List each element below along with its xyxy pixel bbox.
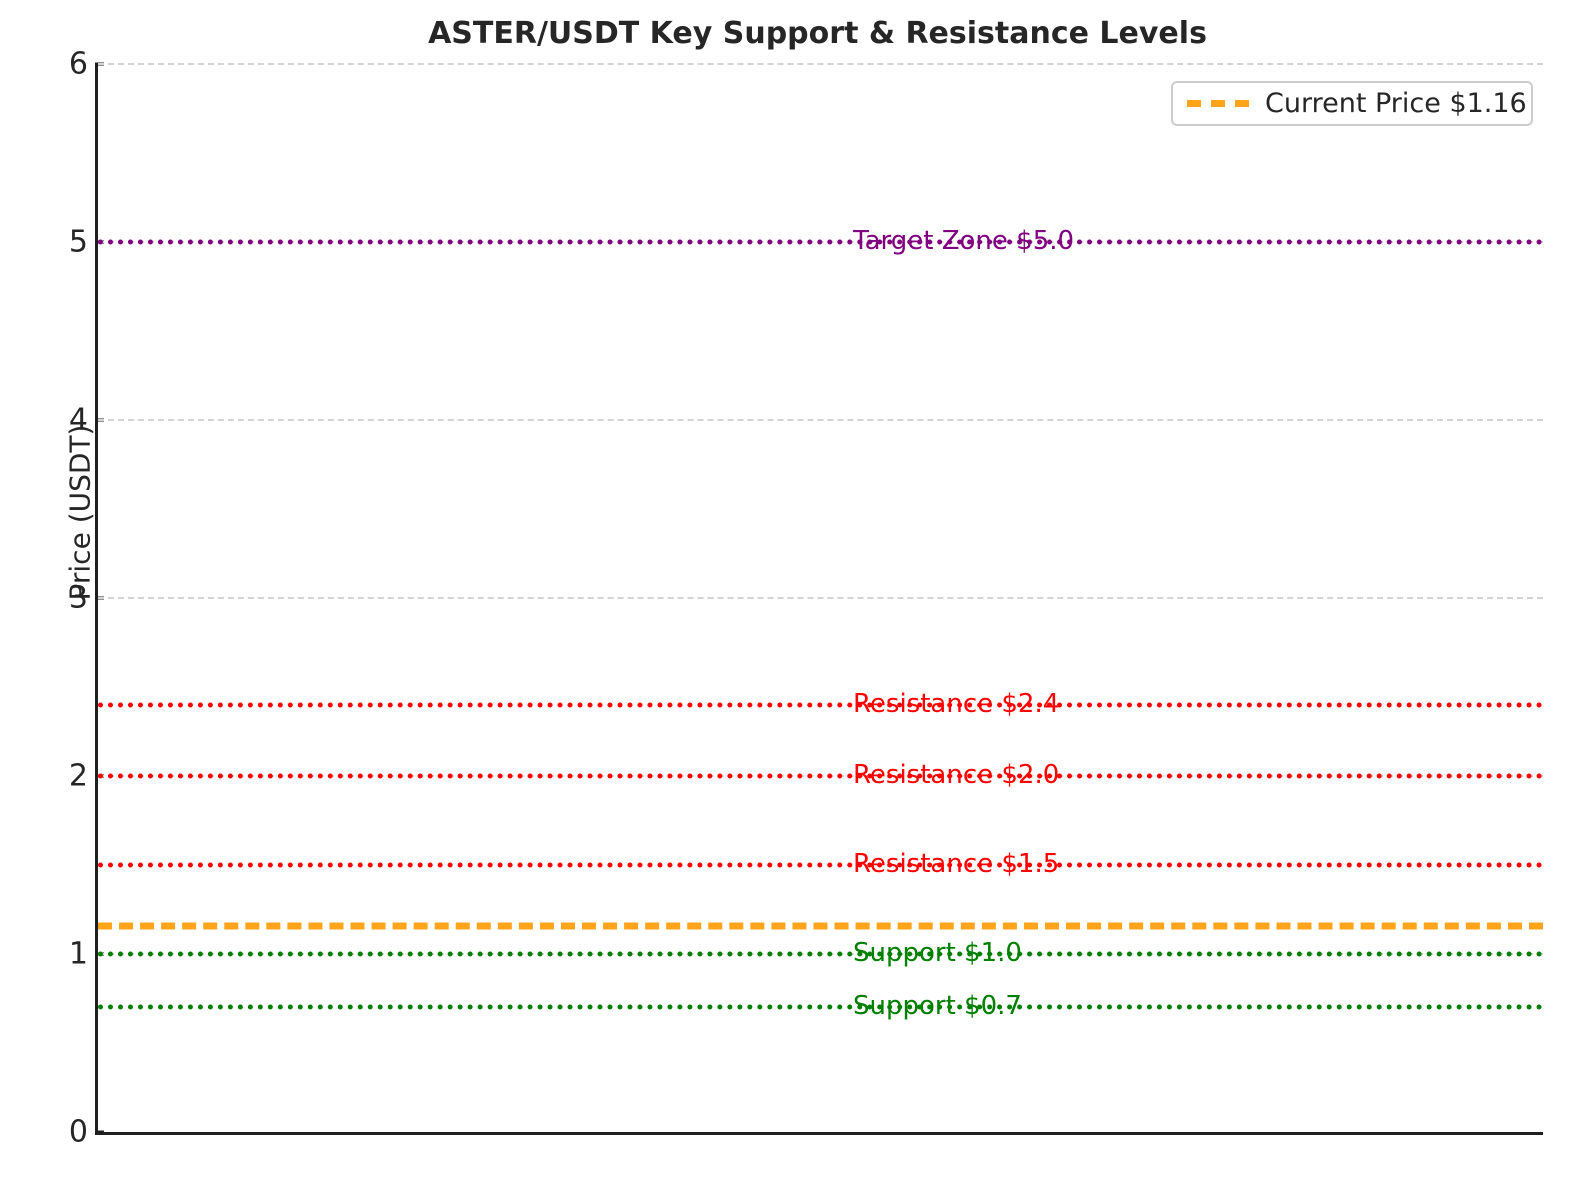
y-tick-label-6: 6 xyxy=(28,47,88,82)
y-tick-label-0: 0 xyxy=(28,1115,88,1150)
y-tick-label-1: 1 xyxy=(28,937,88,972)
level-line-support-0-7 xyxy=(98,1005,1543,1010)
level-line-support-1-0 xyxy=(98,952,1543,957)
level-label-resistance-1-5: Resistance $1.5 xyxy=(853,849,1059,879)
level-line-target-zone xyxy=(98,240,1543,245)
level-label-resistance-2-4: Resistance $2.4 xyxy=(853,689,1059,719)
y-tick-label-5: 5 xyxy=(28,225,88,260)
level-label-support-1-0: Support $1.0 xyxy=(853,938,1022,968)
level-line-current-price xyxy=(98,923,1543,930)
legend-swatch-current-price xyxy=(1187,100,1249,107)
y-tick-label-2: 2 xyxy=(28,759,88,794)
level-label-target-zone: Target Zone $5.0 xyxy=(853,226,1074,256)
legend-label-current-price: Current Price $1.16 xyxy=(1265,88,1527,119)
chart-title: ASTER/USDT Key Support & Resistance Leve… xyxy=(95,16,1540,51)
level-label-support-0-7: Support $0.7 xyxy=(853,991,1022,1021)
chart-legend: Current Price $1.16 xyxy=(1171,81,1533,126)
level-line-resistance-2-0 xyxy=(98,774,1543,779)
y-tick-label-4: 4 xyxy=(28,403,88,438)
level-label-resistance-2-0: Resistance $2.0 xyxy=(853,760,1059,790)
level-line-resistance-2-4 xyxy=(98,703,1543,708)
y-tick-label-3: 3 xyxy=(28,581,88,616)
chart-figure: ASTER/USDT Key Support & Resistance Leve… xyxy=(0,0,1580,1180)
plot-area xyxy=(95,64,1543,1135)
level-line-resistance-1-5 xyxy=(98,863,1543,868)
